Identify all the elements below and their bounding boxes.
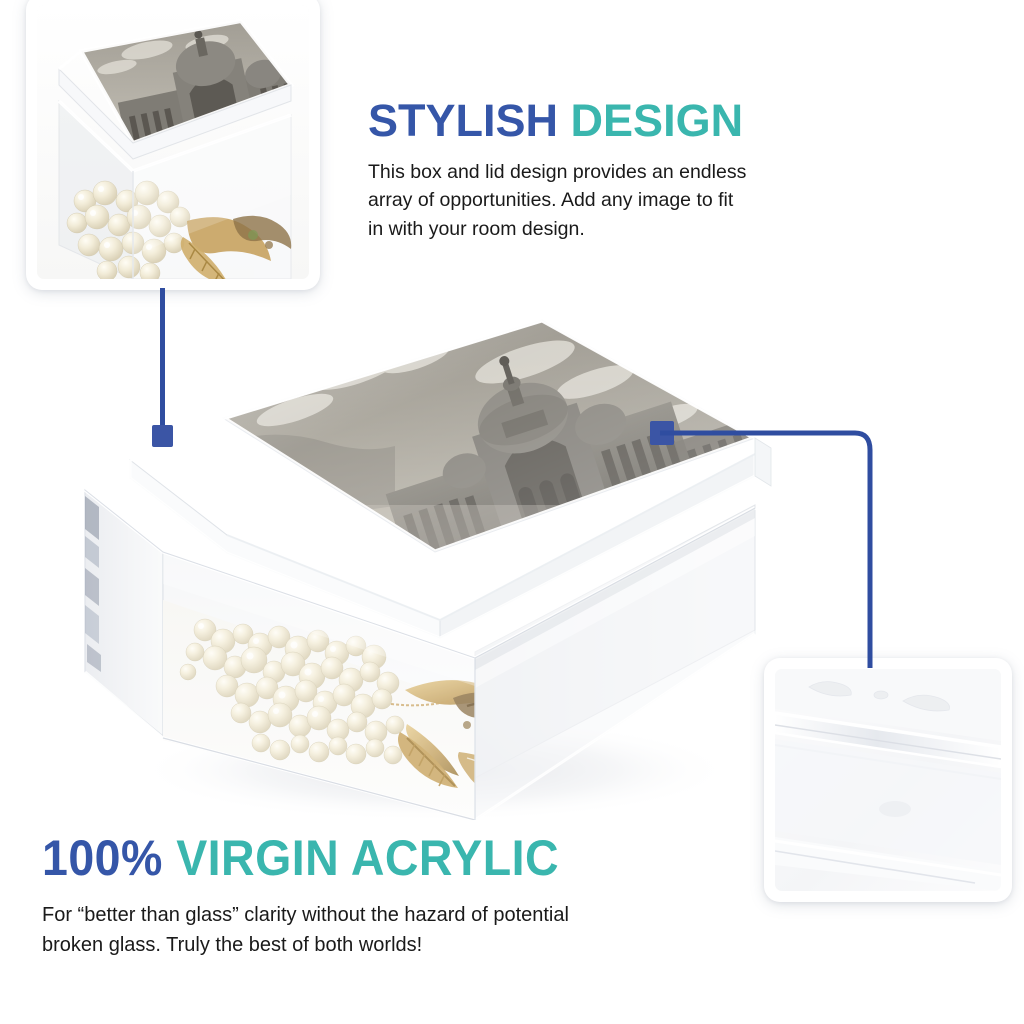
feature-top-headline-primary: STYLISH bbox=[368, 95, 558, 146]
feature-top-body: This box and lid design provides an endl… bbox=[368, 158, 868, 243]
feature-top-headline-accent: DESIGN bbox=[571, 95, 744, 146]
inset-acrylic-clarity-card bbox=[764, 658, 1012, 902]
inset-lid-detail-photo bbox=[37, 5, 309, 279]
inset-lid-detail-card bbox=[26, 0, 320, 290]
connector-right-marker bbox=[650, 421, 674, 445]
feature-stylish-design: STYLISH DESIGN This box and lid design p… bbox=[368, 98, 868, 243]
feature-virgin-acrylic: 100% VIRGIN ACRYLIC For “better than gla… bbox=[42, 833, 742, 960]
inset-acrylic-clarity-photo bbox=[775, 669, 1001, 891]
feature-bottom-headline-primary: 100% bbox=[42, 830, 163, 886]
feature-top-headline: STYLISH DESIGN bbox=[368, 98, 868, 143]
connector-left-line bbox=[160, 288, 165, 436]
product-infographic: STYLISH DESIGN This box and lid design p… bbox=[0, 0, 1024, 1024]
feature-bottom-body: For “better than glass” clarity without … bbox=[42, 900, 742, 960]
connector-left-marker bbox=[152, 425, 173, 447]
feature-bottom-headline: 100% VIRGIN ACRYLIC bbox=[42, 833, 693, 883]
feature-bottom-headline-accent: VIRGIN ACRYLIC bbox=[176, 830, 559, 886]
